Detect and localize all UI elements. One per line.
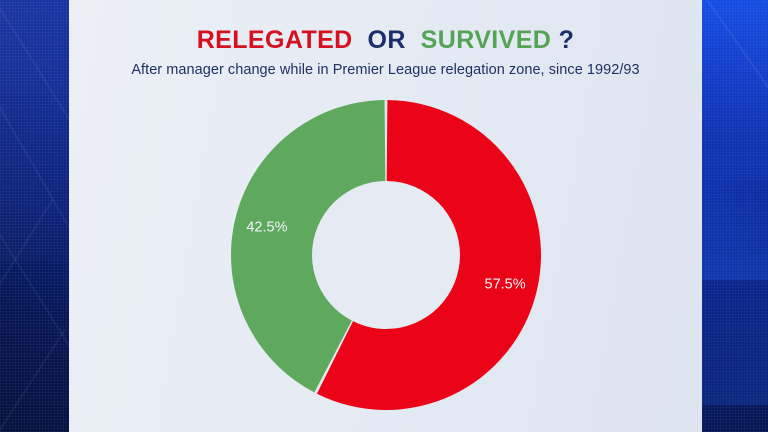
- title-question-mark: ?: [559, 26, 575, 54]
- graphic-card: RELEGATED OR SURVIVED ? After manager ch…: [69, 0, 702, 432]
- panel-streak: [0, 329, 66, 432]
- panel-glow-left: [0, 0, 69, 260]
- title-word-survived: SURVIVED: [421, 26, 552, 54]
- title-word-relegated: RELEGATED: [197, 26, 353, 54]
- left-decorative-panel: [0, 0, 69, 432]
- panel-glow-right: [702, 255, 768, 405]
- title-word-or: OR: [368, 26, 406, 54]
- donut-center-hole: [312, 181, 460, 329]
- slice-value-label-survived: 42.5%: [246, 219, 287, 235]
- page-title: RELEGATED OR SURVIVED ?: [69, 26, 702, 55]
- chart-subtitle: After manager change while in Premier Le…: [69, 62, 702, 78]
- right-decorative-panel: [702, 0, 768, 432]
- donut-chart-svg: 57.5%42.5%: [226, 95, 546, 415]
- slice-value-label-relegated: 57.5%: [484, 277, 525, 293]
- donut-chart: 57.5%42.5%: [69, 95, 702, 415]
